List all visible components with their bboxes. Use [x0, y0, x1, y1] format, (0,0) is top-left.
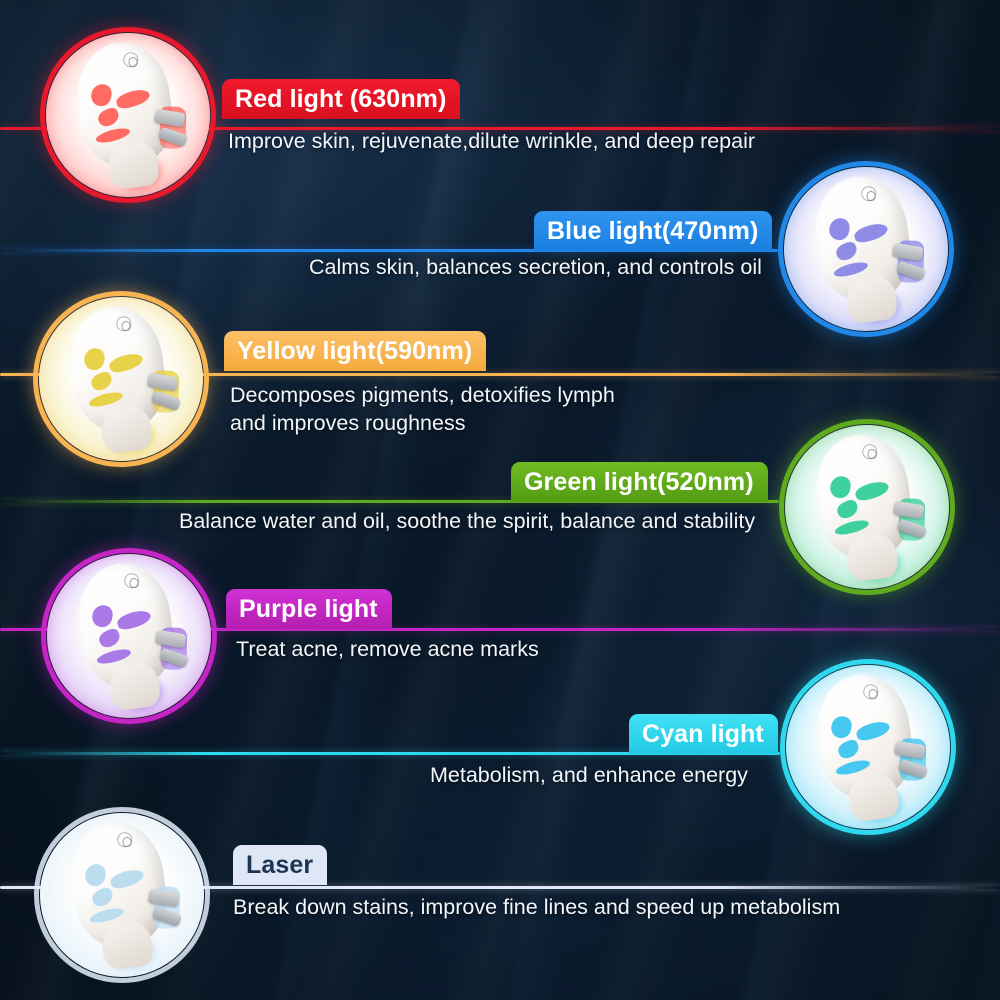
mask-ring-cyan [780, 659, 956, 835]
infographic-canvas: Red light (630nm)Improve skin, rejuvenat… [0, 0, 1000, 1000]
mask-ring-blue [778, 161, 954, 337]
light-description-blue: Calms skin, balances secretion, and cont… [309, 253, 762, 281]
mask-photo-blue [778, 161, 954, 337]
mask-photo-cyan [780, 659, 956, 835]
light-description-green: Balance water and oil, soothe the spirit… [179, 507, 755, 535]
light-description-yellow: Decomposes pigments, detoxifies lymph an… [230, 381, 615, 438]
mask-ring-laser [34, 807, 210, 983]
light-description-cyan: Metabolism, and enhance energy [430, 761, 748, 789]
mask-photo-yellow [33, 291, 209, 467]
mask-photo-green [779, 419, 955, 595]
mask-ring-purple [41, 548, 217, 724]
light-label-purple: Purple light [226, 589, 392, 629]
light-description-laser: Break down stains, improve fine lines an… [233, 893, 840, 921]
light-label-blue: Blue light(470nm) [534, 211, 772, 251]
mask-ring-yellow [33, 291, 209, 467]
light-description-red: Improve skin, rejuvenate,dilute wrinkle,… [228, 127, 755, 155]
mask-ring-green [779, 419, 955, 595]
light-label-red: Red light (630nm) [222, 79, 460, 119]
light-description-purple: Treat acne, remove acne marks [236, 635, 539, 663]
light-label-laser: Laser [233, 845, 327, 885]
mask-photo-laser [34, 807, 210, 983]
light-label-green: Green light(520nm) [511, 462, 768, 502]
mask-photo-red [40, 27, 216, 203]
light-label-cyan: Cyan light [629, 714, 778, 754]
mask-photo-purple [41, 548, 217, 724]
light-label-yellow: Yellow light(590nm) [224, 331, 486, 371]
mask-ring-red [40, 27, 216, 203]
